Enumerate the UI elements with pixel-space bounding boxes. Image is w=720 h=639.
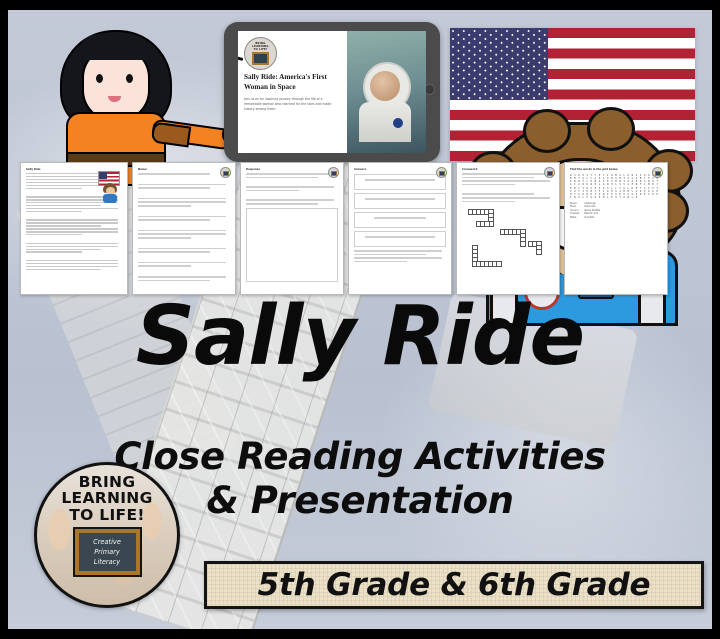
brand-tagline-line-1: BRING: [61, 474, 152, 490]
teacher-eye-left: [96, 74, 103, 83]
worksheet-logo-badge: [328, 167, 339, 178]
worksheet-header: Response: [246, 168, 338, 171]
slide-logo-line3: TO LIFE!: [254, 48, 268, 51]
nasa-patch-icon: [393, 118, 403, 128]
word-bank-item: NASA: [570, 216, 576, 219]
worksheet-written-response: Response: [240, 162, 344, 295]
teacher-eye-right: [126, 74, 133, 83]
worksheet-character-icon: [102, 183, 118, 203]
brand-logo-badge: BRING LEARNING TO LIFE! Creative Primary…: [34, 462, 180, 608]
chalkboard-line-1: Creative: [93, 537, 121, 547]
worksheet-logo-badge: [436, 167, 447, 178]
flag-stars-row-b: [450, 28, 548, 100]
worksheet-preview-strip: Sally Ride: [8, 162, 712, 302]
cover-stage: BRING LEARNING TO LIFE! Sally Ride: Amer…: [8, 10, 712, 629]
brand-tagline-line-2: LEARNING: [61, 490, 152, 506]
answer-box: [354, 193, 446, 209]
word-search-word-bank: Brave Moon Ground Crashes NASA Challenge…: [570, 202, 662, 219]
worksheet-crossword-puzzle: Crossword: [456, 162, 560, 295]
sally-hair-curl-6: [587, 107, 635, 151]
flag-canton: [450, 28, 548, 100]
grade-level-banner: 5th Grade & 6th Grade: [204, 561, 704, 609]
worksheet-header: Crossword: [462, 168, 554, 171]
answer-box: [354, 212, 446, 228]
slide-logo-chalkboard: [252, 52, 269, 65]
grade-level-text: 5th Grade & 6th Grade: [258, 567, 651, 603]
astronaut-figure: [363, 62, 411, 112]
teacher-bangs: [78, 34, 150, 60]
slide-text-panel: BRING LEARNING TO LIFE! Sally Ride: Amer…: [238, 31, 347, 153]
worksheet-logo-badge: [544, 167, 555, 178]
teacher-pointing-character: [22, 12, 212, 177]
worksheet-answer-key: Answers: [348, 162, 452, 295]
word-bank-item: Scientist: [584, 216, 594, 219]
worksheet-word-search: Find the words in the grid below R S D H…: [564, 162, 668, 295]
chalkboard-logo: Creative Primary Literacy: [73, 527, 142, 577]
tablet-device: BRING LEARNING TO LIFE! Sally Ride: Amer…: [224, 22, 440, 162]
worksheet-logo-badge: [652, 167, 663, 178]
astronaut-suit: [359, 102, 411, 142]
crossword-grid[interactable]: [462, 205, 554, 279]
answer-box: [354, 174, 446, 190]
pointer-stick: [238, 44, 244, 61]
slide-logo-badge: BRING LEARNING TO LIFE!: [244, 37, 277, 70]
tablet-screen: BRING LEARNING TO LIFE! Sally Ride: Amer…: [238, 31, 426, 153]
worksheet-comprehension-questions: Name:: [132, 162, 236, 295]
slide-astronaut-photo: [347, 31, 426, 153]
worksheet-header: Find the words in the grid below: [570, 168, 662, 171]
worksheet-header: Answers: [354, 168, 446, 171]
slide-body-text: Join us on an inspiring journey through …: [244, 97, 341, 113]
astronaut-visor-face: [370, 71, 400, 101]
brand-tagline-line-3: TO LIFE!: [61, 507, 152, 523]
response-answer-box[interactable]: [246, 208, 338, 282]
worksheet-reading-passage: Sally Ride: [20, 162, 128, 295]
chalkboard-line-2: Primary: [94, 547, 120, 557]
page-title: Sally Ride: [8, 298, 712, 376]
word-search-grid[interactable]: R S D H V Y T P C I R B O L K W S I Q Q …: [570, 174, 662, 199]
slide-title: Sally Ride: America's First Woman in Spa…: [244, 72, 341, 93]
worksheet-logo-badge: [220, 167, 231, 178]
sally-hair-curl-5: [523, 109, 571, 153]
brand-tagline: BRING LEARNING TO LIFE!: [61, 474, 152, 523]
worksheet-header: Name:: [138, 168, 230, 171]
answer-box: [354, 231, 446, 247]
product-cover: BRING LEARNING TO LIFE! Sally Ride: Amer…: [0, 0, 720, 639]
chalkboard-line-3: Literacy: [94, 557, 120, 567]
chalkboard-inner: Creative Primary Literacy: [79, 533, 136, 571]
